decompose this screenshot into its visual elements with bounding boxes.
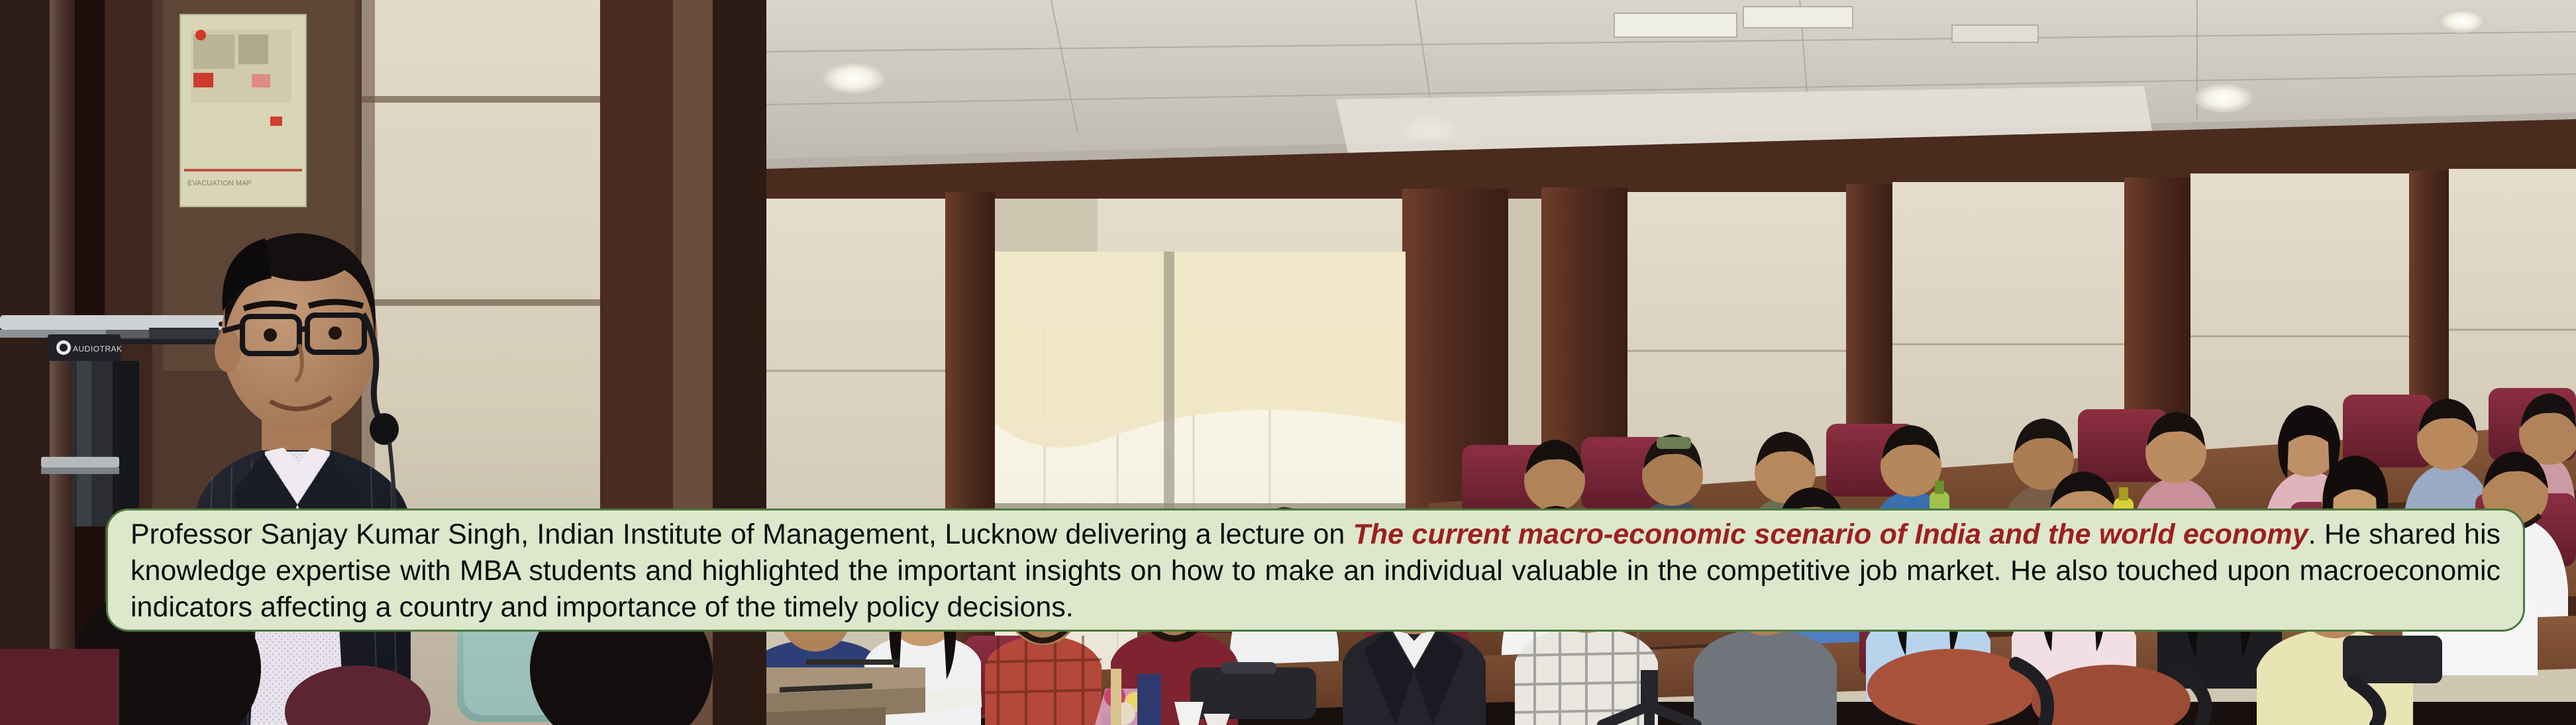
panel-seam-2 bbox=[362, 299, 600, 306]
lecture-title: The current macro-economic scenario of I… bbox=[1353, 518, 2308, 550]
evacuation-map-sign: EVACUATION MAP bbox=[180, 15, 306, 207]
caption-intro: Professor Sanjay Kumar Singh, Indian Ins… bbox=[130, 518, 1353, 550]
caption-text: Professor Sanjay Kumar Singh, Indian Ins… bbox=[130, 516, 2500, 626]
panel-seam-1 bbox=[362, 96, 600, 103]
wood-pillar-left bbox=[0, 0, 50, 725]
caption-box: Professor Sanjay Kumar Singh, Indian Ins… bbox=[106, 508, 2525, 632]
svg-text:EVACUATION MAP: EVACUATION MAP bbox=[187, 179, 252, 187]
cap bbox=[1657, 437, 1691, 449]
screenshot-root: EVACUATION MAP bbox=[0, 0, 2576, 725]
wood-pillar-highlight bbox=[50, 0, 75, 725]
svg-text:AUDIOTRAK: AUDIOTRAK bbox=[73, 344, 123, 354]
